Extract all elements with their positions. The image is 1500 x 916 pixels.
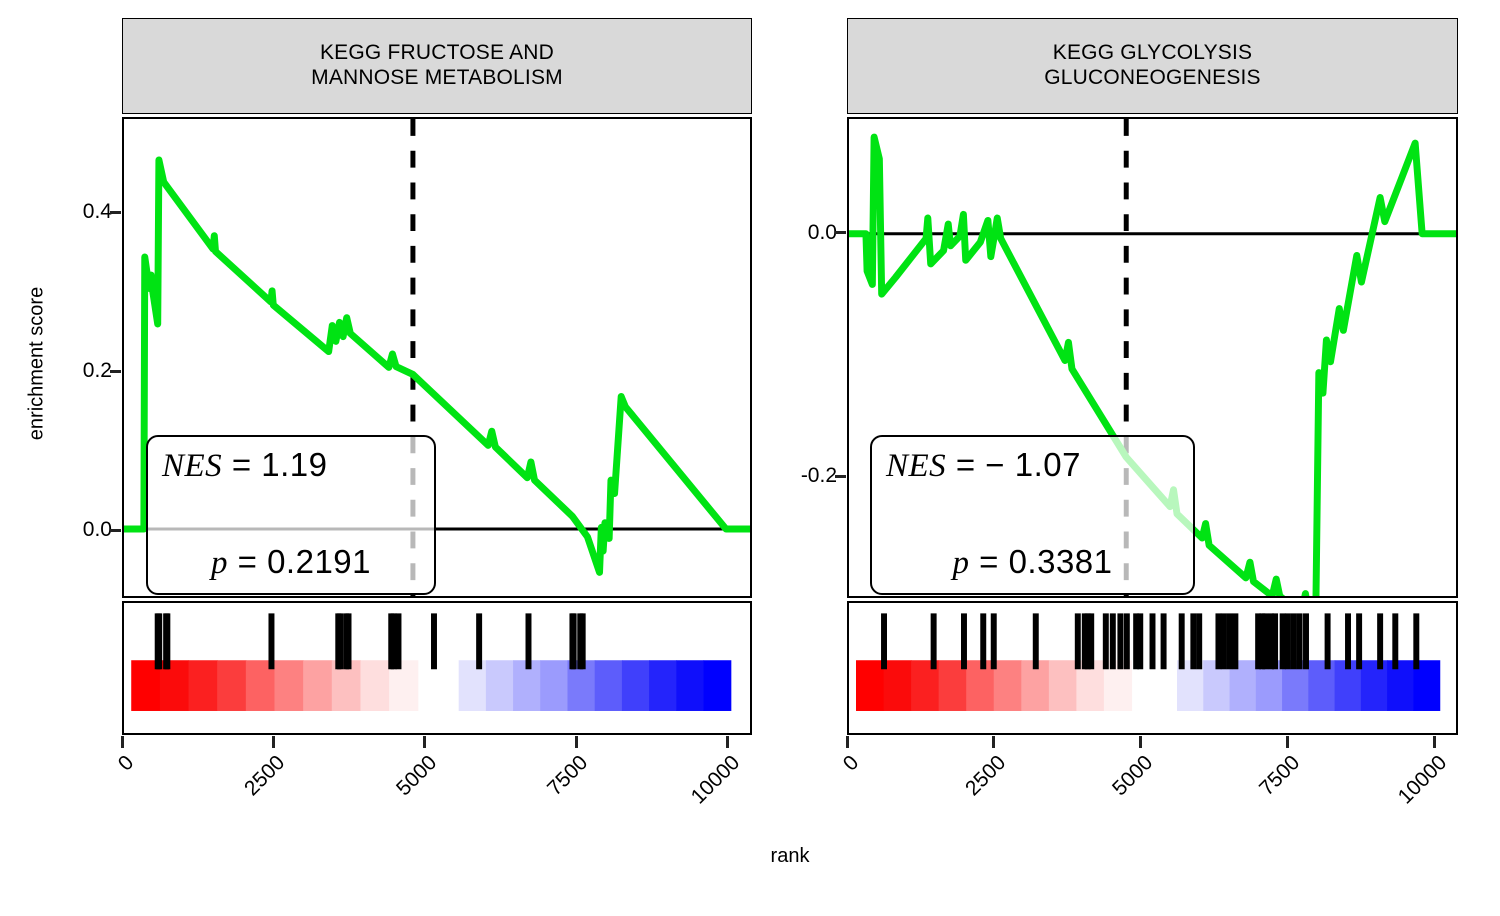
rank-gradient-positive <box>1049 660 1077 711</box>
gene-hit-tick <box>1262 613 1268 669</box>
gene-hit-tick <box>1303 613 1309 669</box>
x-axis-tick-label: 10000 <box>1286 751 1451 916</box>
rank-gradient-negative <box>1387 660 1414 711</box>
gene-hit-tick <box>1215 613 1221 669</box>
rank-gradient-positive <box>856 660 884 711</box>
gene-hit-tick <box>1377 613 1383 669</box>
facet-strip-label: KEGG FRUCTOSE ANDMANNOSE METABOLISM <box>311 41 563 91</box>
y-axis-tick-mark <box>110 370 121 373</box>
gene-hit-tick <box>1075 613 1081 669</box>
rank-gradient-positive <box>217 660 246 711</box>
p-value: p = 0.3381 <box>886 543 1179 582</box>
gene-hit-tick <box>991 613 997 669</box>
gene-hit-tick <box>1117 613 1123 669</box>
facet-strip-1: KEGG GLYCOLYSISGLUCONEOGENESIS <box>847 18 1458 114</box>
gene-hit-tick <box>164 613 170 669</box>
y-axis-tick-mark <box>110 529 121 532</box>
rank-gradient-positive <box>303 660 332 711</box>
gene-hit-tick <box>346 613 352 669</box>
rank-gradient-negative <box>486 660 514 711</box>
y-axis-tick-label: 0.0 <box>808 221 837 245</box>
rank-gradient-negative <box>595 660 623 711</box>
gene-hit-tick <box>526 613 532 669</box>
rank-gradient-negative <box>459 660 487 711</box>
gene-hit-tick <box>1345 613 1351 669</box>
rank-gradient-negative <box>704 660 732 711</box>
gene-hit-tick <box>1227 613 1233 669</box>
gene-hit-tick <box>580 613 586 669</box>
facet-strip-0: KEGG FRUCTOSE ANDMANNOSE METABOLISM <box>122 18 752 114</box>
gene-hit-tick <box>571 613 577 669</box>
nes-value: NES = − 1.07 <box>886 446 1179 485</box>
y-axis-tick-mark <box>835 475 846 478</box>
x-axis-tick-label: 0 <box>0 751 139 916</box>
gene-hit-tick <box>431 613 437 669</box>
x-axis-tick-label: 5000 <box>276 751 441 916</box>
gene-hit-tick <box>1285 613 1291 669</box>
gene-hit-tick <box>1033 613 1039 669</box>
stats-annotation-box-0: NES = 1.19p = 0.2191 <box>146 435 436 595</box>
gene-hit-tick <box>1196 613 1202 669</box>
x-axis-tick-mark <box>1139 736 1142 748</box>
gene-hit-tick <box>1124 613 1130 669</box>
gene-hit-tick <box>1325 613 1331 669</box>
y-axis-title: enrichment score <box>26 249 49 479</box>
facet-strip-label: KEGG GLYCOLYSISGLUCONEOGENESIS <box>1044 41 1261 91</box>
y-axis-tick-label: 0.4 <box>83 200 112 224</box>
rank-gradient-positive <box>360 660 389 711</box>
gene-hit-tick <box>1137 613 1143 669</box>
gene-hit-tick <box>1110 613 1116 669</box>
gene-hit-tick <box>268 613 274 669</box>
y-axis-tick-mark <box>835 231 846 234</box>
gene-hit-tick <box>1150 613 1156 669</box>
gene-hit-tick <box>961 613 967 669</box>
gene-hit-tick <box>156 613 162 669</box>
gene-hit-tick <box>1280 613 1286 669</box>
gene-hit-tick <box>1088 613 1094 669</box>
rank-gradient-negative <box>1308 660 1335 711</box>
rank-gradient-positive <box>884 660 912 711</box>
stats-annotation-box-1: NES = − 1.07p = 0.3381 <box>870 435 1195 595</box>
gene-hit-tick <box>337 613 343 669</box>
rank-gradient-negative <box>1361 660 1388 711</box>
x-axis-tick-mark <box>992 736 995 748</box>
gene-rank-rug-panel-0 <box>122 601 752 735</box>
gene-hit-tick <box>1179 613 1185 669</box>
gene-hit-tick <box>1190 613 1196 669</box>
x-axis-tick-mark <box>272 736 275 748</box>
gene-rank-rug-panel-1 <box>847 601 1458 735</box>
gene-hit-tick <box>1161 613 1167 669</box>
y-axis-tick-label: 0.2 <box>83 359 112 383</box>
y-axis-tick-label: -0.2 <box>801 464 837 488</box>
gene-hit-tick <box>980 613 986 669</box>
x-axis-tick-label: 7500 <box>1139 751 1304 916</box>
x-axis-tick-label: 2500 <box>125 751 290 916</box>
x-axis-tick-label: 7500 <box>428 751 593 916</box>
gene-hit-tick <box>1221 613 1227 669</box>
x-axis-tick-label: 5000 <box>992 751 1157 916</box>
gene-hit-tick <box>931 613 937 669</box>
x-axis-tick-mark <box>726 736 729 748</box>
gene-hit-tick <box>1356 613 1362 669</box>
y-axis-tick-label: 0.0 <box>83 518 112 542</box>
gene-hit-tick <box>1297 613 1303 669</box>
gene-hit-tick <box>1103 613 1109 669</box>
x-axis-tick-mark <box>121 736 124 748</box>
x-axis-tick-label: 2500 <box>845 751 1010 916</box>
gene-hit-tick <box>1413 613 1419 669</box>
x-axis-tick-mark <box>1286 736 1289 748</box>
x-axis-tick-mark <box>423 736 426 748</box>
gene-hit-tick <box>476 613 482 669</box>
rank-gradient-negative <box>676 660 704 711</box>
rank-gradient-positive <box>994 660 1022 711</box>
gene-hit-tick <box>395 613 401 669</box>
rank-gradient-positive <box>274 660 303 711</box>
x-axis-tick-mark <box>575 736 578 748</box>
p-value: p = 0.2191 <box>162 543 420 582</box>
rank-gradient-negative <box>649 660 677 711</box>
gene-hit-tick <box>1392 613 1398 669</box>
rank-gradient-negative <box>540 660 568 711</box>
y-axis-tick-mark <box>110 211 121 214</box>
rank-gradient-negative <box>622 660 650 711</box>
gene-hit-tick <box>1272 613 1278 669</box>
x-axis-tick-mark <box>1433 736 1436 748</box>
gene-hit-tick <box>1232 613 1238 669</box>
x-axis-tick-mark <box>846 736 849 748</box>
nes-value: NES = 1.19 <box>162 446 420 485</box>
gene-hit-tick <box>1291 613 1297 669</box>
gsea-figure: enrichment score rank KEGG FRUCTOSE ANDM… <box>0 0 1500 900</box>
gene-hit-tick <box>881 613 887 669</box>
rank-gradient-positive <box>189 660 218 711</box>
